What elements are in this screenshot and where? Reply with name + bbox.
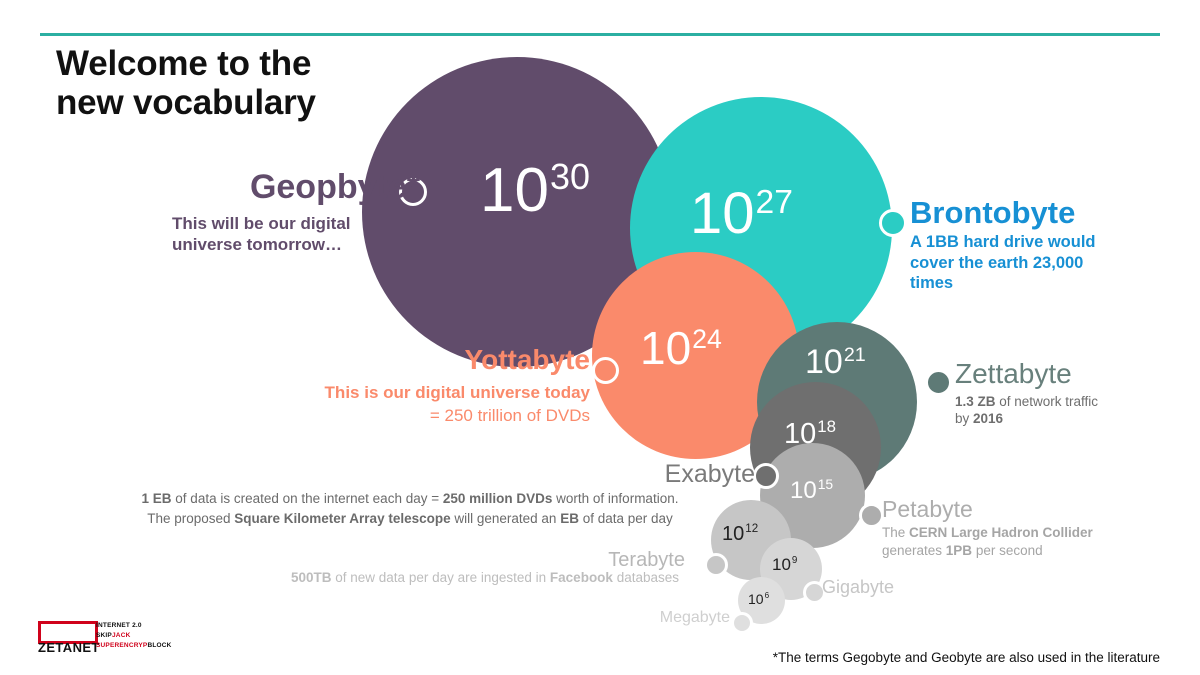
bubble-value-exabyte: 1018: [784, 420, 836, 449]
connector-dot-zettabyte: [925, 369, 952, 396]
bubble-value-base: 10: [784, 418, 816, 450]
peta-text-3: per second: [972, 543, 1043, 558]
logo-tagline-line3: SUPERENCRYPBLOCK: [96, 641, 172, 651]
peta-text-1: The: [882, 525, 909, 540]
callout-desc-brontobyte: A 1BB hard drive would cover the earth 2…: [910, 232, 1155, 294]
callout-name-yottabyte: Yottabyte: [245, 346, 590, 374]
bubble-value-exponent: 21: [844, 344, 866, 366]
callout-name-gigabyte: Gigabyte: [822, 578, 962, 596]
callout-exabyte[interactable]: Exabyte: [545, 462, 755, 487]
callout-desc-exabyte: 1 EB of data is created on the internet …: [100, 489, 720, 528]
top-divider-rule: [40, 33, 1160, 36]
callout-desc-petabyte: The CERN Large Hadron Collider generates…: [882, 524, 1132, 560]
callout-desc-line3: times: [910, 274, 953, 292]
peta-strong-2: 1PB: [946, 543, 972, 558]
connector-dot-brontobyte: [879, 209, 907, 237]
bubble-value-terabyte: 1012: [722, 524, 758, 544]
bubble-value-exponent: 27: [756, 184, 793, 221]
callout-name-megabyte: Megabyte: [600, 610, 730, 626]
bubble-value-exponent: 12: [745, 522, 758, 535]
page-title-line1: Welcome to the: [56, 44, 311, 83]
tera-text-2: databases: [613, 570, 679, 585]
callout-name-brontobyte: Brontobyte: [910, 197, 1155, 228]
tera-strong-2: Facebook: [550, 570, 613, 585]
bubble-value-zettabyte: 1021: [805, 345, 866, 379]
tera-text-1: of new data per day are ingested in: [332, 570, 550, 585]
bubble-value-yottabyte: 1024: [640, 325, 722, 371]
logo-tagline-line1: INTERNET 2.0: [96, 621, 172, 631]
callout-megabyte[interactable]: Megabyte: [600, 610, 730, 626]
callout-name-zettabyte: Zettabyte: [955, 360, 1185, 388]
bubble-value-megabyte: 106: [748, 592, 769, 606]
exa-strong-3: Square Kilometer Array telescope: [234, 511, 450, 526]
callout-name-exabyte: Exabyte: [545, 462, 755, 487]
bubble-value-exponent: 30: [550, 156, 590, 197]
peta-strong-1: CERN Large Hadron Collider: [909, 525, 1093, 540]
bubble-value-exponent: 6: [765, 591, 770, 600]
bubble-value-gigabyte: 109: [772, 556, 797, 573]
callout-gigabyte[interactable]: Gigabyte: [822, 578, 962, 596]
peta-text-2: generates: [882, 543, 946, 558]
exa-text-1: of data is created on the internet each …: [172, 491, 443, 506]
connector-dot-petabyte: [859, 503, 884, 528]
bubble-value-base: 10: [772, 555, 791, 574]
exa-text-5: of data per day: [579, 511, 673, 526]
callout-desc-strong2: 2016: [973, 411, 1003, 426]
callout-name-geopbyte: Geopbyte*: [150, 170, 420, 204]
callout-desc-strong1: 1.3 ZB: [955, 394, 996, 409]
logo-tagline: INTERNET 2.0 SKIPJACK SUPERENCRYPBLOCK: [96, 621, 172, 650]
callout-desc-terabyte: 500TB of new data per day are ingested i…: [250, 569, 720, 588]
footnote: *The terms Gegobyte and Geobyte are also…: [773, 650, 1160, 665]
exa-text-3: The proposed: [147, 511, 234, 526]
callout-desc-line1: A 1BB hard drive would: [910, 233, 1096, 251]
connector-dot-megabyte: [731, 612, 753, 634]
callout-desc-line2: cover the earth 23,000: [910, 254, 1083, 272]
callout-desc-geopbyte: This will be our digital universe tomorr…: [150, 213, 420, 256]
bubble-value-geopbyte: 1030: [480, 160, 590, 222]
callout-petabyte[interactable]: Petabyte The CERN Large Hadron Collider …: [882, 498, 1132, 560]
callout-desc-text2: by: [955, 411, 973, 426]
callout-name-terabyte: Terabyte: [560, 550, 685, 570]
logo-tagline-line3a: SUPERENCRYP: [96, 642, 147, 649]
bubble-value-base: 10: [640, 322, 691, 374]
logo-tagline-line3b: BLOCK: [147, 642, 171, 649]
logo-tagline-line2a: SKIP: [96, 632, 112, 639]
bubble-value-base: 10: [748, 591, 764, 607]
bubble-value-brontobyte: 1027: [690, 185, 793, 243]
tera-strong-1: 500TB: [291, 570, 332, 585]
slide-canvas: Welcome to the new vocabulary 1030 1027 …: [0, 0, 1200, 675]
bubble-value-base: 10: [690, 181, 755, 246]
callout-terabyte[interactable]: Terabyte: [560, 550, 685, 570]
callout-desc-zettabyte: 1.3 ZB of network traffic by 2016: [955, 394, 1185, 428]
callout-desc-text1: of network traffic: [996, 394, 1099, 409]
zetanet-logo[interactable]: ZETANET INTERNET 2.0 SKIPJACK SUPERENCRY…: [38, 621, 198, 663]
connector-dot-yottabyte: [592, 357, 619, 384]
connector-dot-exabyte: [753, 463, 779, 489]
callout-name-petabyte: Petabyte: [882, 498, 1132, 521]
exa-strong-1: 1 EB: [142, 491, 172, 506]
bubble-value-exponent: 15: [818, 476, 833, 492]
bubble-value-exponent: 24: [692, 324, 722, 354]
bubble-value-base: 10: [790, 477, 817, 504]
logo-tagline-line2: SKIPJACK: [96, 631, 172, 641]
bubble-value-exponent: 18: [817, 417, 836, 436]
bubble-value-base: 10: [480, 156, 549, 225]
exa-strong-4: EB: [560, 511, 579, 526]
exa-text-4: will generated an: [451, 511, 561, 526]
callout-zettabyte[interactable]: Zettabyte 1.3 ZB of network traffic by 2…: [955, 360, 1185, 428]
exa-strong-2: 250 million DVDs: [443, 491, 553, 506]
callout-desc-yottabyte: This is our digital universe today = 250…: [245, 382, 590, 427]
bubble-value-base: 10: [722, 523, 744, 545]
callout-yottabyte[interactable]: Yottabyte This is our digital universe t…: [245, 346, 590, 427]
callout-desc-line2: universe tomorrow…: [172, 235, 342, 254]
callout-desc-line1: This is our digital universe today: [325, 383, 590, 402]
callout-brontobyte[interactable]: Brontobyte A 1BB hard drive would cover …: [910, 197, 1155, 294]
bubble-value-exponent: 9: [792, 555, 797, 566]
callout-desc-line1: This will be our digital: [172, 214, 351, 233]
logo-wordmark: ZETANET: [38, 640, 100, 655]
exa-text-2: worth of information.: [552, 491, 678, 506]
callout-geopbyte[interactable]: Geopbyte* This will be our digital unive…: [150, 170, 420, 256]
callout-desc-line2: = 250 trillion of DVDs: [245, 405, 590, 426]
logo-tagline-line2b: JACK: [112, 632, 131, 639]
bubble-value-petabyte: 1015: [790, 479, 833, 503]
bubble-value-base: 10: [805, 343, 843, 381]
